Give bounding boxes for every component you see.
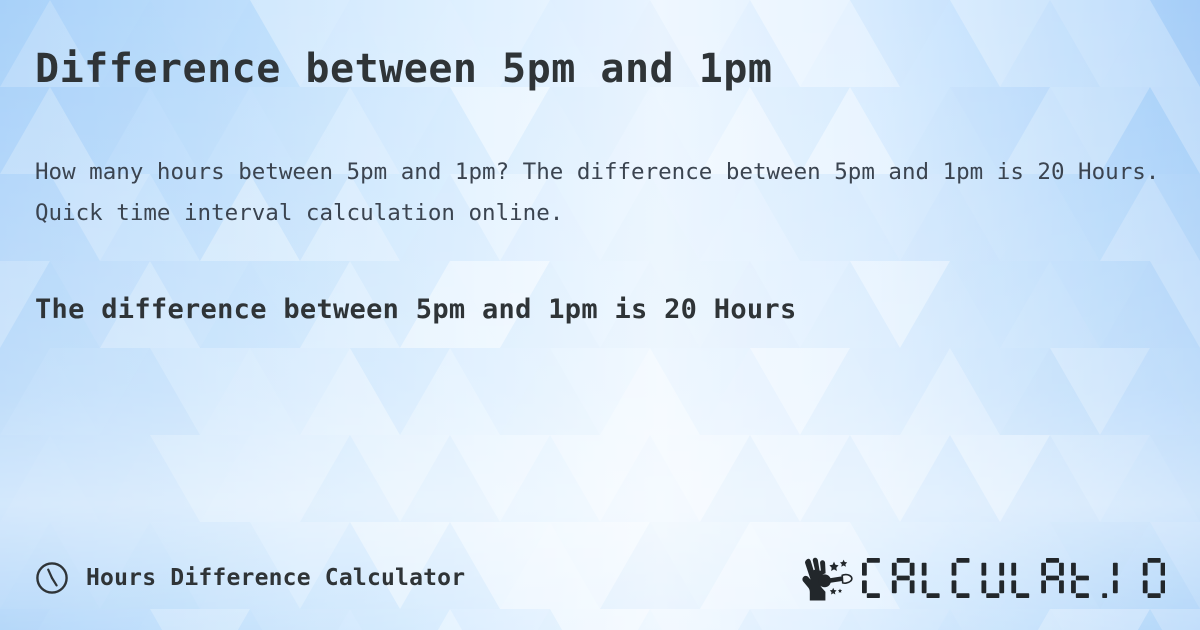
- result-statement: The difference between 5pm and 1pm is 20…: [35, 294, 1165, 325]
- brand-label: Hours Difference Calculator: [86, 565, 465, 591]
- page-container: Difference between 5pm and 1pm How many …: [0, 0, 1200, 630]
- brand-block: Hours Difference Calculator: [35, 561, 465, 595]
- footer: Hours Difference Calculator: [35, 554, 1165, 602]
- page-description: How many hours between 5pm and 1pm? The …: [35, 152, 1165, 234]
- logo-wordmark: CALCULAT.IO: [862, 558, 1165, 598]
- page-title: Difference between 5pm and 1pm: [35, 46, 1165, 92]
- clock-icon: [35, 561, 69, 595]
- hand-magic-wand-icon: [800, 555, 858, 601]
- calculatio-logo[interactable]: CALCULAT.IO: [800, 555, 1165, 601]
